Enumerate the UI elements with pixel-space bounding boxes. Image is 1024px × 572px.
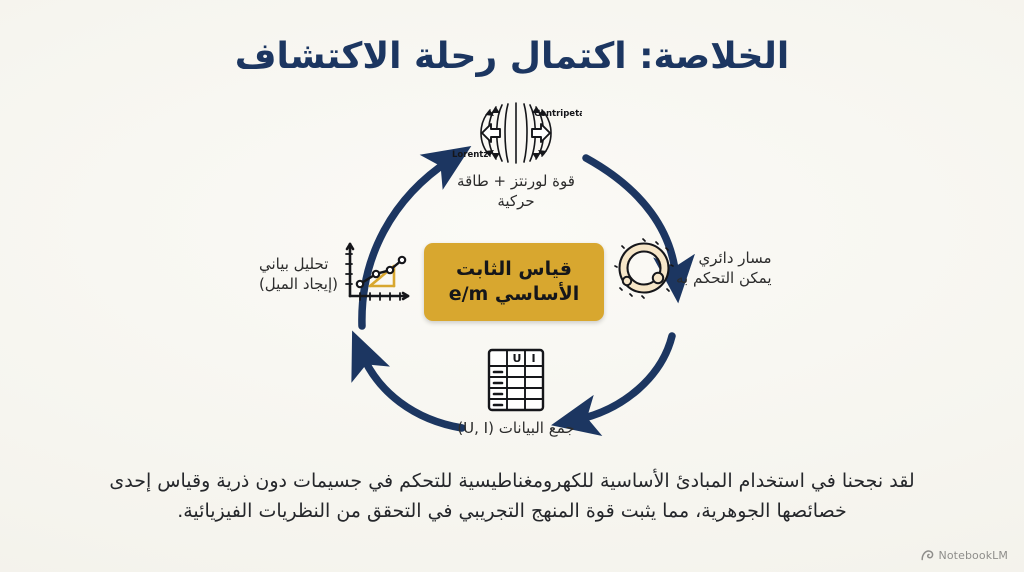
slide-canvas: الخلاصة: اكتمال رحلة الاكتشاف <box>0 0 1024 572</box>
icon-label-lorentz: Lorentz <box>452 150 488 160</box>
icon-label-centripetal: Centripetal <box>534 109 582 119</box>
notebooklm-watermark: NotebookLM <box>921 549 1008 562</box>
circular-path-icon <box>612 236 676 300</box>
cycle-node-circular-path-label: مسار دائري يمكن التحكم به <box>676 248 772 289</box>
notebooklm-watermark-label: NotebookLM <box>939 549 1008 562</box>
center-concept-box[interactable]: قياس الثابت الأساسي e/m <box>424 243 604 321</box>
cycle-node-forces-label: قوة لورنتز + طاقة حركية <box>457 171 575 212</box>
page-title: الخلاصة: اكتمال رحلة الاكتشاف <box>0 34 1024 79</box>
notebooklm-spiral-icon <box>921 549 934 562</box>
cycle-node-graph-analysis[interactable]: تحليل بياني (إيجاد الميل) <box>182 238 414 310</box>
table-header-i: I <box>532 352 536 365</box>
center-concept-label: قياس الثابت الأساسي e/m <box>449 257 580 307</box>
table-header-u: U <box>513 352 522 365</box>
cycle-diagram: Lorentz Centripetal قوة لورنتز + طاقة حر… <box>0 98 1024 458</box>
cycle-node-circular-path[interactable]: مسار دائري يمكن التحكم به <box>612 236 852 300</box>
cycle-node-forces[interactable]: Lorentz Centripetal قوة لورنتز + طاقة حر… <box>402 102 630 212</box>
data-table-icon: U I <box>483 348 549 412</box>
cycle-node-data-collection-label: جمع البيانات (U, I) <box>457 418 574 438</box>
cycle-node-graph-analysis-label: تحليل بياني (إيجاد الميل) <box>259 254 338 295</box>
slope-graph-icon <box>338 238 414 310</box>
lorentz-centripetal-forces-icon: Lorentz Centripetal <box>450 102 582 164</box>
cycle-node-data-collection[interactable]: U I جمع البيانات (U, I) <box>412 348 620 438</box>
summary-paragraph: لقد نجحنا في استخدام المبادئ الأساسية لل… <box>78 466 946 526</box>
